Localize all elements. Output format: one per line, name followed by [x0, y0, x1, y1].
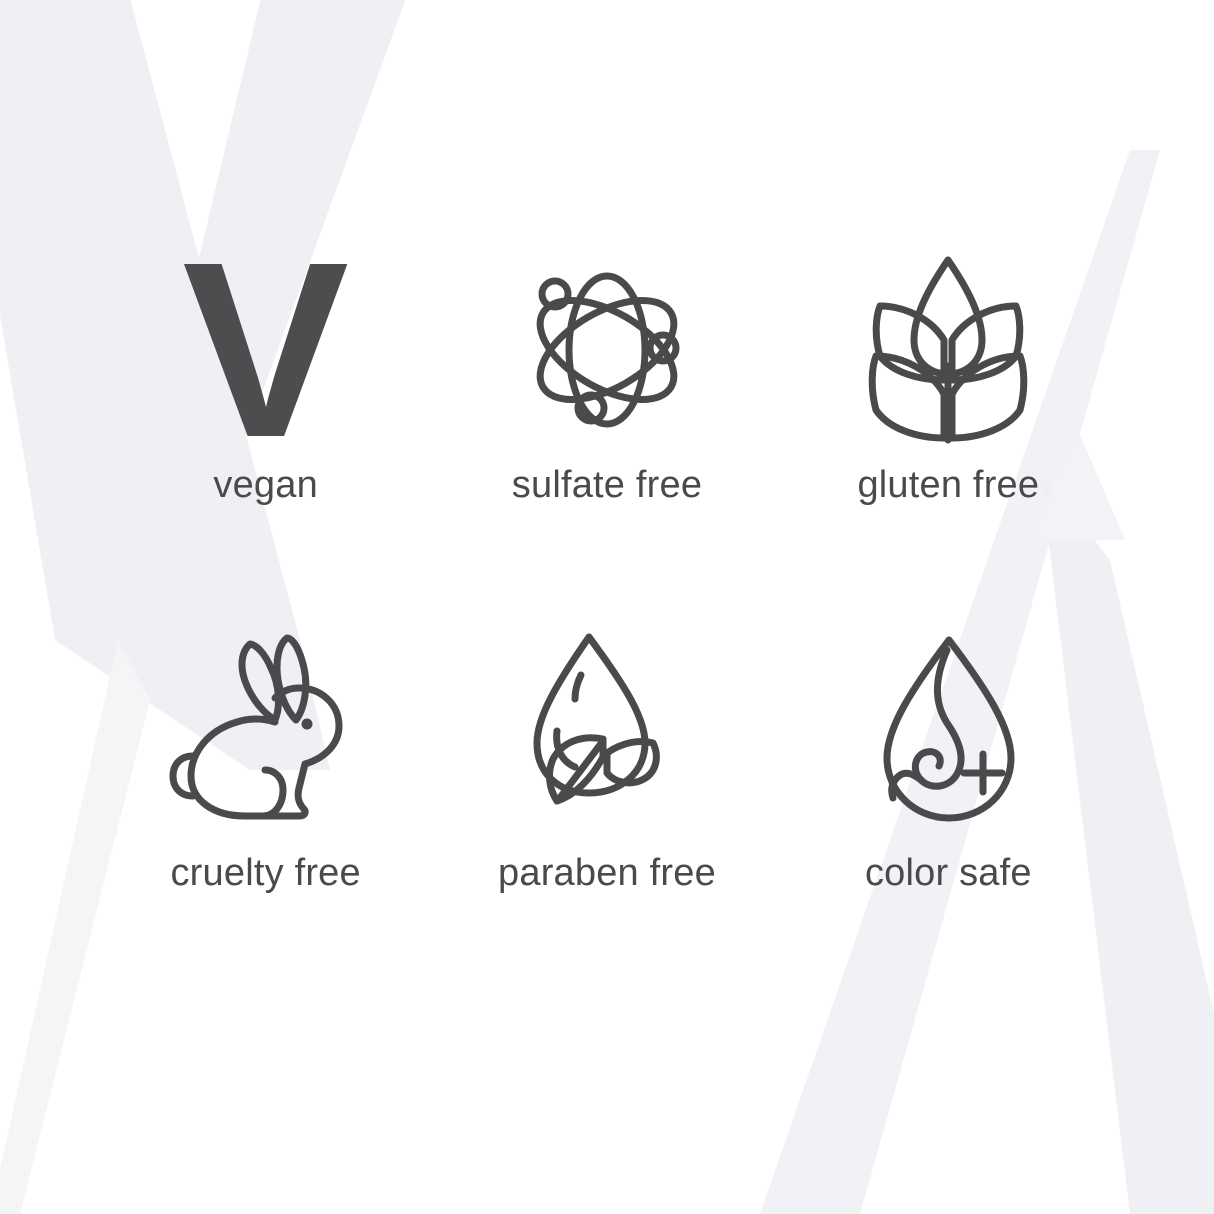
vegan-v-glyph: V [182, 260, 349, 440]
badge-color-safe[interactable]: color safe [778, 627, 1119, 1004]
badge-vegan[interactable]: V vegan [95, 250, 436, 627]
product-attribute-badges: V vegan [0, 0, 1214, 1214]
plus-icon [964, 754, 1002, 792]
badge-sulfate-free[interactable]: sulfate free [436, 250, 777, 627]
droplet-swirl [915, 650, 961, 786]
badge-label-paraben-free: paraben free [498, 854, 716, 892]
atom-orbit-left [524, 280, 690, 420]
badge-grid: V vegan [0, 0, 1214, 1214]
droplet-plus-icon [861, 630, 1036, 830]
badge-gluten-free[interactable]: gluten free [778, 250, 1119, 627]
badge-paraben-free[interactable]: paraben free [436, 627, 777, 1004]
droplet-leaf-icon [517, 627, 697, 832]
badge-label-sulfate-free: sulfate free [512, 466, 702, 504]
rabbit-eye [302, 718, 313, 729]
rabbit-ear-left [242, 644, 279, 720]
rabbit-hind-leg [263, 770, 283, 816]
badge-label-vegan: vegan [213, 466, 318, 504]
badge-label-cruelty-free: cruelty free [170, 854, 360, 892]
badge-cruelty-free[interactable]: cruelty free [95, 627, 436, 1004]
droplet-highlight-small [575, 675, 581, 699]
rabbit-icon [153, 630, 378, 830]
atom-icon [507, 250, 707, 450]
wheat-grain-icon [858, 248, 1038, 453]
vegan-v-letter-icon: V [182, 250, 349, 450]
badge-label-color-safe: color safe [865, 854, 1032, 892]
rabbit-body [191, 688, 339, 816]
badge-label-gluten-free: gluten free [857, 466, 1039, 504]
